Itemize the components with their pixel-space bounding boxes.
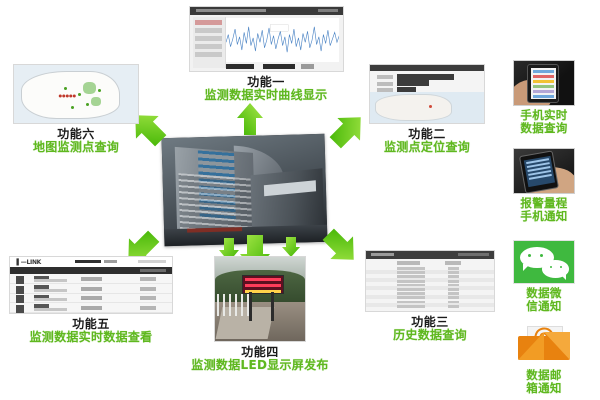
photo-fence bbox=[217, 294, 249, 316]
phone-alert-icon bbox=[513, 148, 575, 194]
notification-line2-n3: 信通知 bbox=[496, 300, 592, 313]
caption-f3: 功能三 历史数据查询 bbox=[360, 316, 500, 343]
thumb-user-area bbox=[138, 260, 166, 262]
thumb-titlebar bbox=[190, 7, 343, 15]
notification-line2-n2: 手机通知 bbox=[496, 210, 592, 223]
map-land-outline bbox=[375, 94, 452, 121]
thumb-list-row bbox=[10, 302, 172, 313]
thumb-search-form bbox=[370, 71, 484, 93]
function-card-f1[interactable]: 功能一 监测数据实时曲线显示 bbox=[186, 6, 346, 103]
arrow-up-icon bbox=[235, 102, 265, 136]
thumb-footer-buttons bbox=[226, 64, 333, 69]
thumb-map-area bbox=[370, 92, 484, 123]
wechat-icon bbox=[513, 240, 575, 284]
function-desc-f4: 监测数据LED显示屏发布 bbox=[170, 359, 350, 372]
thumbnail-map-locate-screen[interactable] bbox=[369, 64, 485, 124]
caption-n4: 数据邮 箱通知 bbox=[496, 369, 592, 395]
map-marker[interactable] bbox=[71, 106, 74, 109]
map-region-highlight bbox=[91, 97, 101, 106]
map-label: ●●●●● bbox=[59, 93, 76, 98]
function-card-f6[interactable]: ●●●●● 功能六 地图监测点查询 bbox=[6, 64, 146, 155]
notification-line2-n1: 数据查询 bbox=[496, 122, 592, 135]
notification-card-n1[interactable]: 手机实时 数据查询 bbox=[496, 60, 592, 135]
phone-in-hand-icon bbox=[513, 60, 575, 106]
function-desc-f3: 历史数据查询 bbox=[360, 329, 500, 342]
notification-card-n4[interactable]: @ 数据邮 箱通知 bbox=[496, 322, 592, 395]
caption-f2: 功能二 监测点定位查询 bbox=[362, 128, 492, 155]
thumb-titlebar bbox=[366, 251, 494, 259]
function-desc-f2: 监测点定位查询 bbox=[362, 141, 492, 154]
thumb-logo: ▌—LINK bbox=[16, 259, 41, 266]
caption-f1: 功能一 监测数据实时曲线显示 bbox=[186, 76, 346, 103]
function-card-f5[interactable]: ▌—LINK 功能五 监测数据实时数据查看 bbox=[2, 256, 180, 345]
function-desc-f5: 监测数据实时数据查看 bbox=[2, 331, 180, 344]
function-card-f4[interactable]: 功能四 监测数据LED显示屏发布 bbox=[170, 256, 350, 373]
led-pole-left bbox=[249, 292, 252, 321]
caption-n1: 手机实时 数据查询 bbox=[496, 109, 592, 135]
thumb-nav-active bbox=[75, 260, 101, 263]
function-desc-f1: 监测数据实时曲线显示 bbox=[186, 89, 346, 102]
caption-f5: 功能五 监测数据实时数据查看 bbox=[2, 318, 180, 345]
thumb-toolbar bbox=[10, 267, 172, 274]
led-pole-right bbox=[271, 292, 274, 321]
thumbnail-realtime-list-screen[interactable]: ▌—LINK bbox=[9, 256, 173, 314]
table-row bbox=[366, 303, 494, 307]
diagram-canvas: 功能一 监测数据实时曲线显示 ●●●●● 功能六 地图监测点查询 bbox=[0, 0, 600, 400]
map-region-highlight bbox=[83, 82, 96, 94]
arrow-down-small-2-icon bbox=[281, 236, 301, 258]
map-marker[interactable] bbox=[64, 87, 67, 90]
notification-line2-n4: 箱通知 bbox=[496, 382, 592, 395]
thumbnail-history-table-screen[interactable] bbox=[365, 250, 495, 312]
thumb-plot-area bbox=[226, 18, 339, 62]
thumb-sidebar bbox=[193, 17, 226, 68]
notification-card-n3[interactable]: 数据微 信通知 bbox=[496, 240, 592, 313]
caption-n2: 报警量程 手机通知 bbox=[496, 197, 592, 223]
email-icon: @ bbox=[513, 322, 575, 366]
caption-f6: 功能六 地图监测点查询 bbox=[6, 128, 146, 155]
thumb-column-headers bbox=[366, 259, 494, 264]
thumbnail-led-board-photo[interactable] bbox=[214, 256, 306, 342]
thumb-nav-item bbox=[104, 260, 117, 262]
thumbnail-realtime-curve-chart[interactable] bbox=[189, 6, 344, 72]
function-card-f2[interactable]: 功能二 监测点定位查询 bbox=[362, 64, 492, 155]
center-building-photo bbox=[162, 134, 328, 247]
function-card-f3[interactable]: 功能三 历史数据查询 bbox=[360, 250, 500, 343]
caption-f4: 功能四 监测数据LED显示屏发布 bbox=[170, 346, 350, 373]
thumbnail-china-map-screen[interactable]: ●●●●● bbox=[13, 64, 139, 124]
notification-card-n2[interactable]: 报警量程 手机通知 bbox=[496, 148, 592, 223]
caption-n3: 数据微 信通知 bbox=[496, 287, 592, 313]
function-desc-f6: 地图监测点查询 bbox=[6, 141, 146, 154]
